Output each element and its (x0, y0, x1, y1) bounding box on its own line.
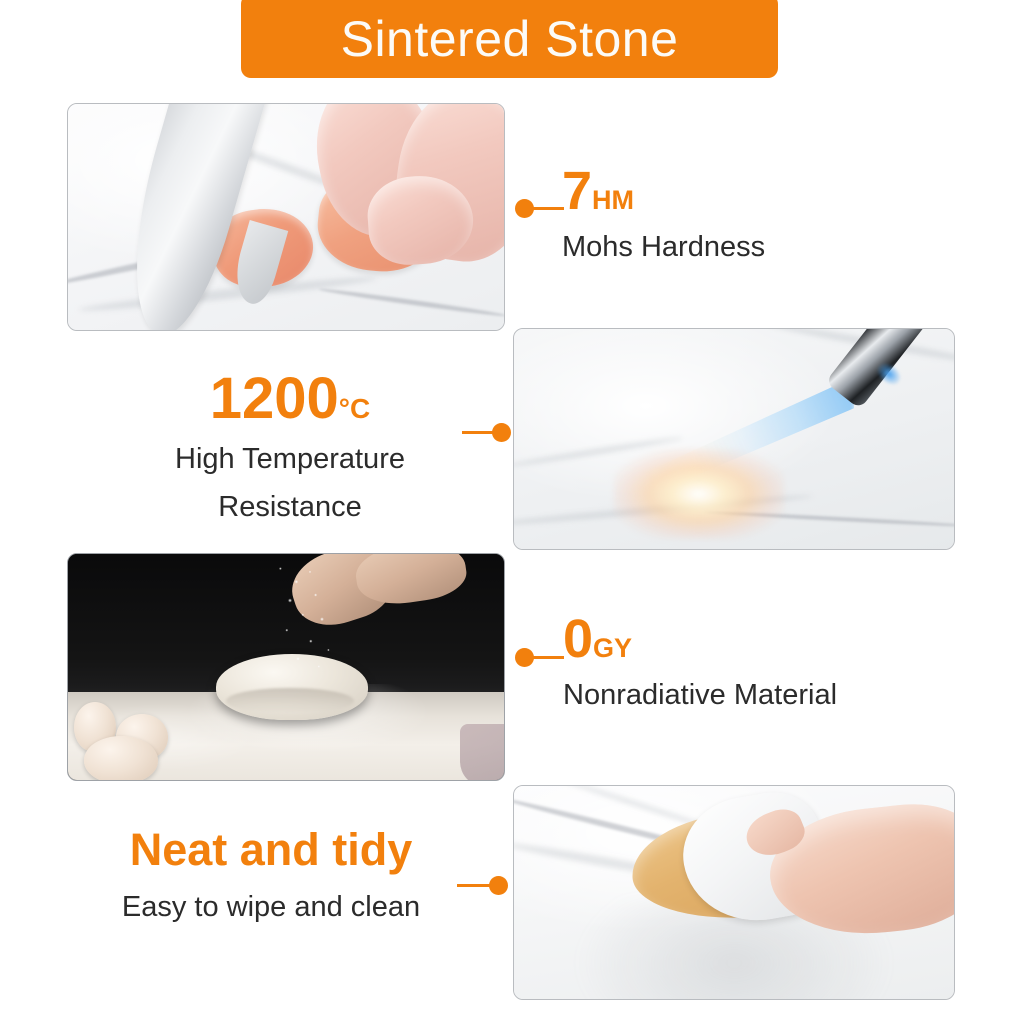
callout-value-row: 0GY (563, 612, 837, 666)
photo-blowtorch-flame (513, 328, 955, 550)
mohs-hardness-value: 7 (562, 161, 592, 221)
falling-flour-particles (266, 562, 346, 672)
clean-headline: Neat and tidy (96, 827, 446, 872)
clean-description: Easy to wipe and clean (96, 890, 446, 924)
callout-nonradiative: 0GY Nonradiative Material (563, 612, 837, 712)
egg (84, 736, 158, 780)
callout-mohs-hardness: 7HM Mohs Hardness (562, 164, 765, 264)
photo-wiping-spill (513, 785, 955, 1000)
temperature-description-line1: High Temperature (130, 442, 450, 476)
temperature-unit: °C (339, 393, 370, 424)
photo-kneading-dough (67, 553, 505, 781)
connector-easy-clean (457, 876, 509, 896)
temperature-value: 1200 (210, 366, 339, 431)
photo-dough-scene (68, 554, 504, 780)
connector-line (532, 656, 564, 659)
connector-nonradiative (515, 648, 565, 668)
connector-high-temperature (462, 423, 512, 443)
callout-easy-clean: Neat and tidy Easy to wipe and clean (96, 827, 446, 924)
radiation-description: Nonradiative Material (563, 678, 837, 712)
radiation-unit: GY (593, 633, 632, 663)
flame-hotspot-glow (614, 449, 784, 539)
glass-bowl (460, 724, 504, 780)
photo-knife-cutting-fish (67, 103, 505, 331)
page-title: Sintered Stone (341, 14, 679, 64)
callout-value-row: 1200°C (130, 370, 450, 428)
dough-fold (226, 688, 354, 714)
callout-high-temperature: 1200°C High Temperature Resistance (130, 370, 450, 524)
connector-line (457, 884, 493, 887)
photo-torch-scene (514, 329, 954, 549)
radiation-value: 0 (563, 609, 593, 669)
connector-mohs-hardness (515, 199, 565, 219)
connector-line (532, 207, 564, 210)
mohs-hardness-unit: HM (592, 185, 634, 215)
connector-line (462, 431, 496, 434)
title-banner: Sintered Stone (241, 0, 778, 78)
photo-knife-scene (68, 104, 504, 330)
temperature-description-line2: Resistance (130, 490, 450, 524)
infographic-page: Sintered Stone 7HM Mohs Hardness (0, 0, 1018, 1018)
mohs-hardness-description: Mohs Hardness (562, 230, 765, 264)
callout-value-row: 7HM (562, 164, 765, 218)
photo-wipe-scene (514, 786, 954, 999)
